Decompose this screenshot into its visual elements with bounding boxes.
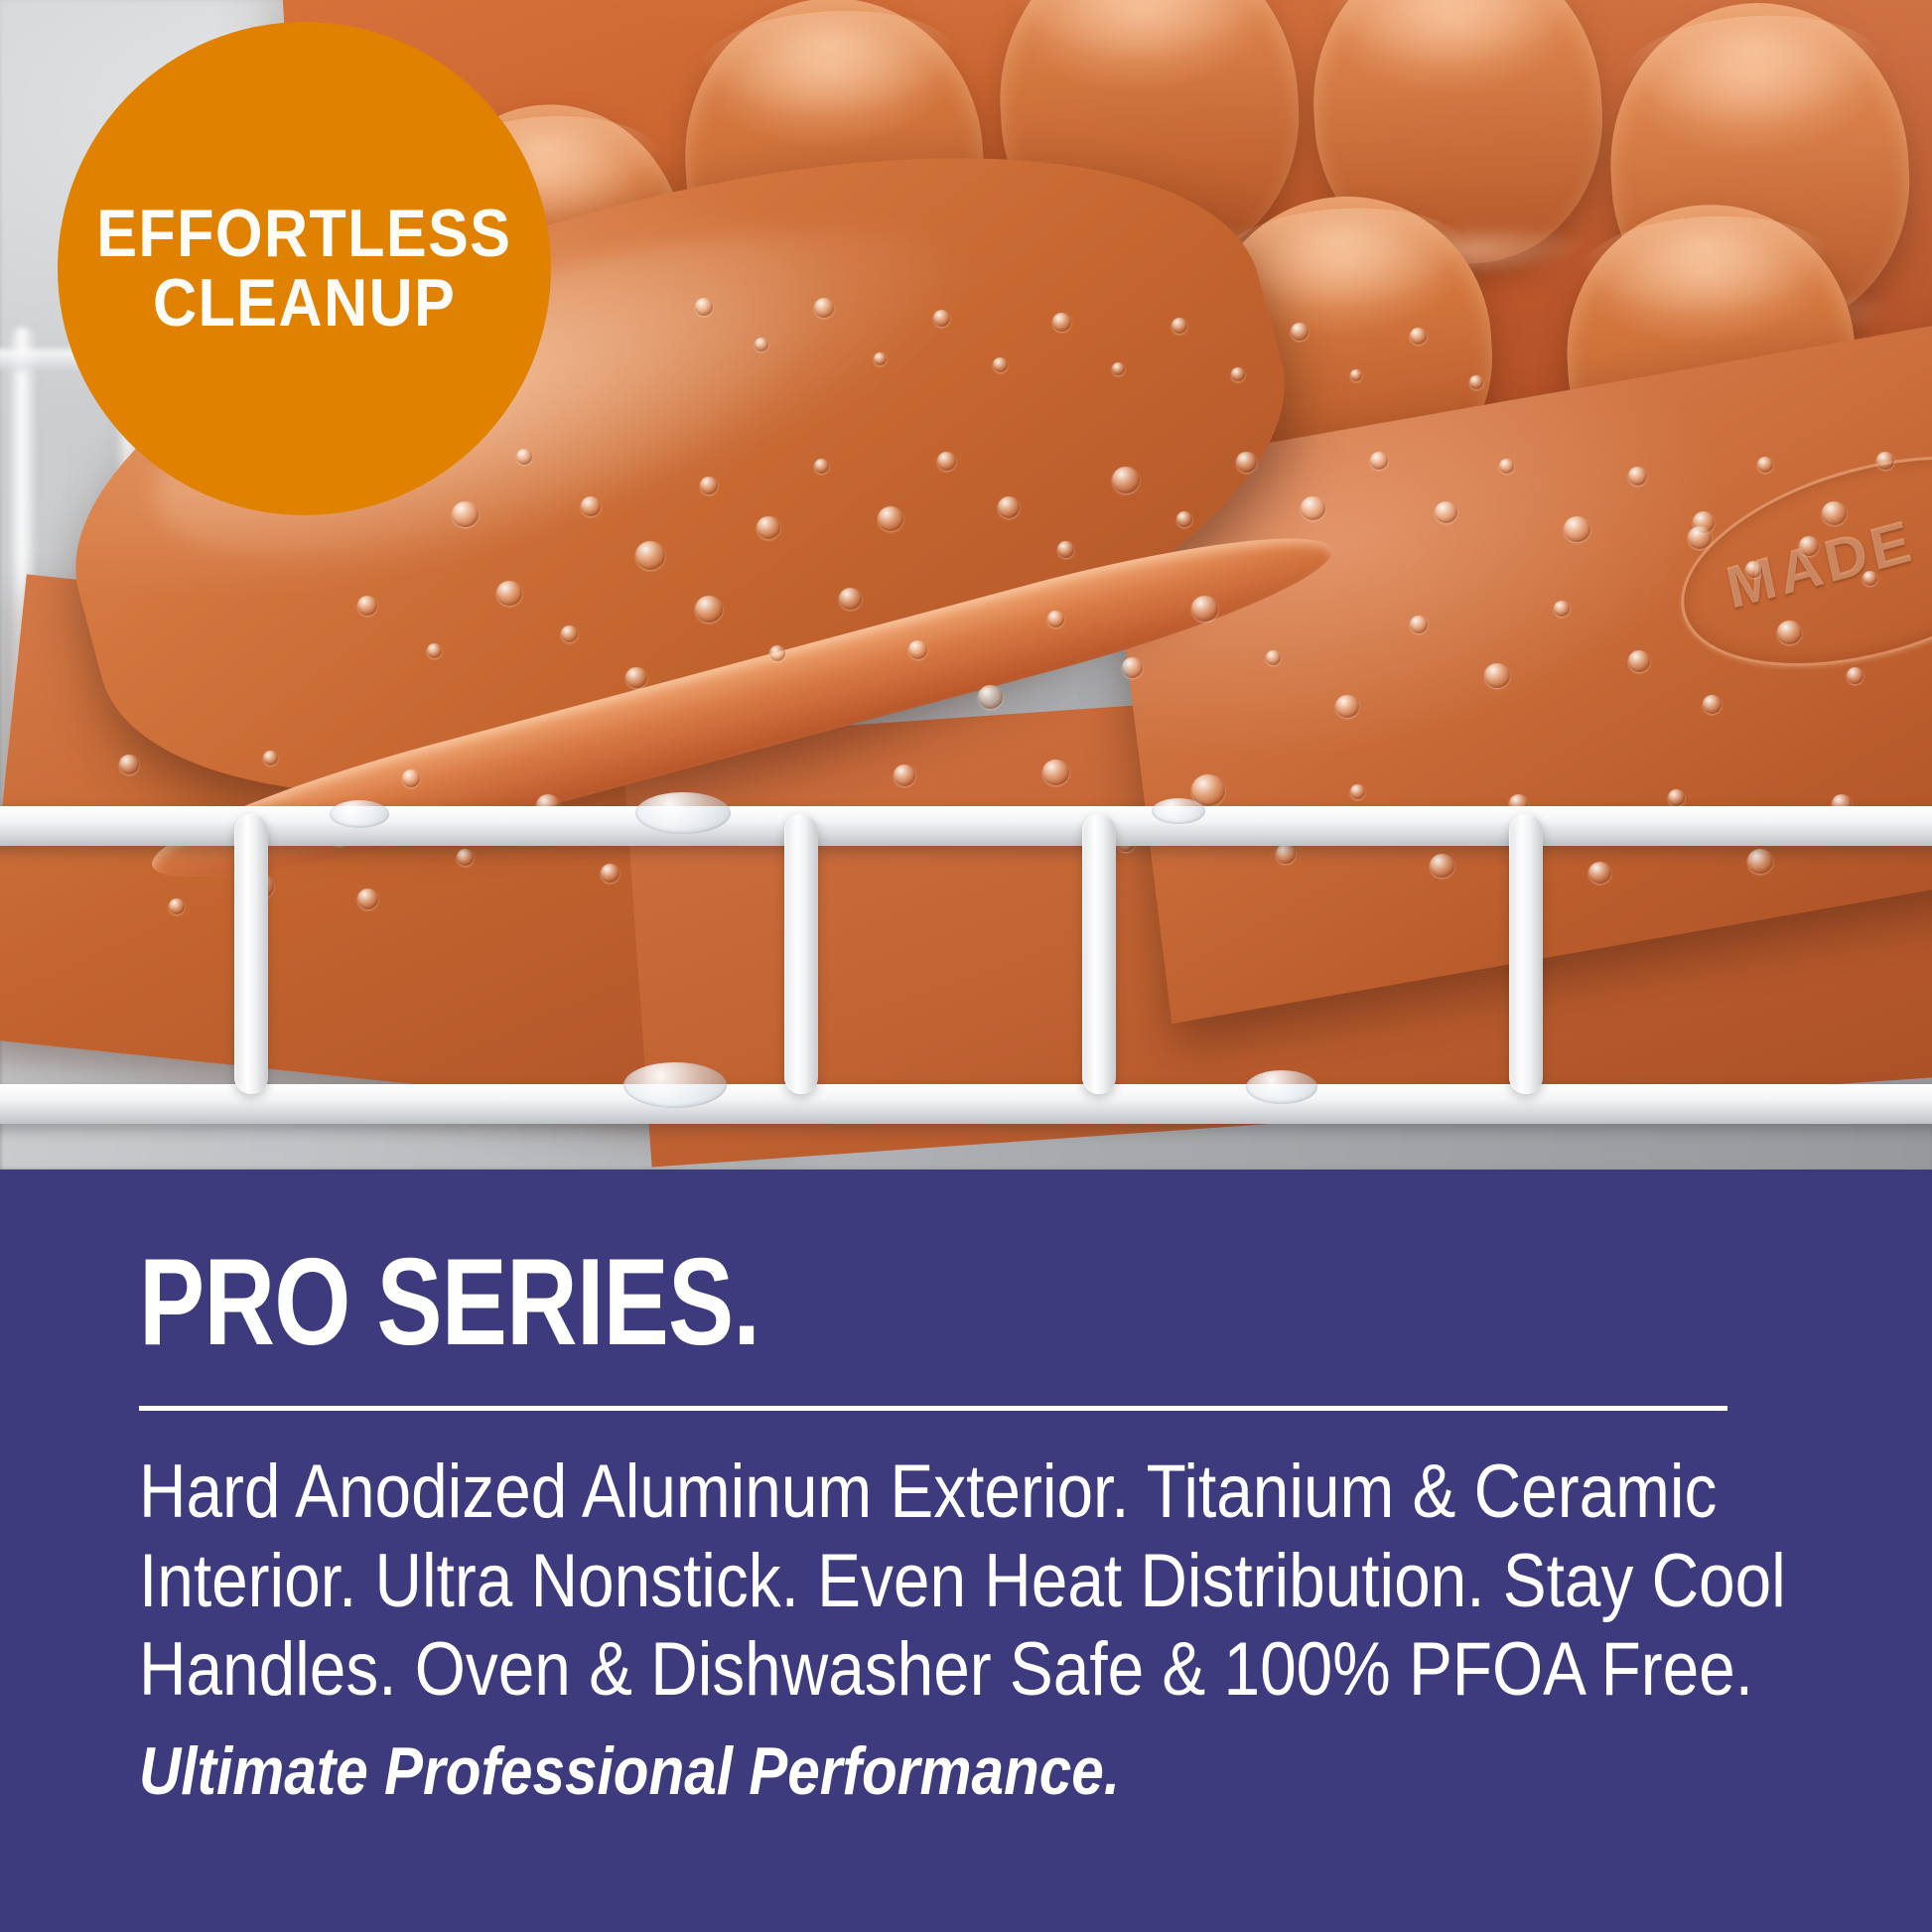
rack-post xyxy=(234,814,268,1094)
rack-rail-lower xyxy=(0,1084,1932,1124)
rack-rail-upper xyxy=(0,806,1932,846)
feature-line: Interior. Ultra Nonstick. Even Heat Dist… xyxy=(139,1537,1582,1626)
rack-water-drop xyxy=(1246,1070,1317,1104)
rack-post xyxy=(1082,814,1116,1094)
rack-water-drop xyxy=(623,1062,727,1108)
feature-line: Hard Anodized Aluminum Exterior. Titaniu… xyxy=(139,1448,1582,1537)
rack-water-drop xyxy=(635,792,731,834)
rack-water-drop xyxy=(1152,798,1205,824)
rack-water-drop xyxy=(330,800,389,828)
info-panel: PRO SERIES. Hard Anodized Aluminum Exter… xyxy=(0,1170,1932,1932)
badge-line-2: CLEANUP xyxy=(153,269,456,338)
feature-description: Hard Anodized Aluminum Exterior. Titaniu… xyxy=(139,1448,1807,1715)
effortless-cleanup-badge: EFFORTLESS CLEANUP xyxy=(58,22,551,515)
badge-line-1: EFFORTLESS xyxy=(96,200,511,268)
product-ad-card: MADE xyxy=(0,0,1932,1932)
page-title: PRO SERIES. xyxy=(139,1241,759,1364)
rack-post xyxy=(1509,814,1543,1094)
tagline: Ultimate Professional Performance. xyxy=(139,1737,1120,1805)
title-divider xyxy=(139,1406,1727,1411)
rack-post xyxy=(784,814,818,1094)
feature-line: Handles. Oven & Dishwasher Safe & 100% P… xyxy=(139,1625,1582,1715)
